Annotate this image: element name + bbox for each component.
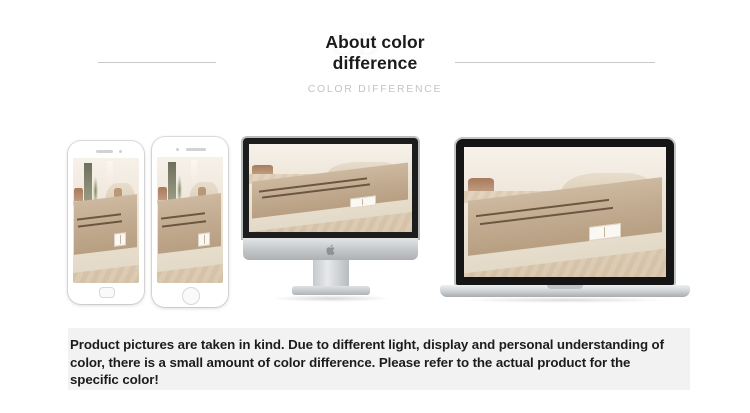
home-button-icon [182,287,200,305]
disclaimer-text: Product pictures are taken in kind. Due … [68,328,690,389]
home-button-icon [99,287,115,298]
laptop-screen [464,147,666,277]
laptop-shadow [460,297,670,303]
scene-door [168,162,177,200]
device-smartphone-iphone [152,137,228,307]
scene-product-tag [198,232,210,247]
scene-product-tag [114,232,126,247]
phone-screen-b [157,157,223,283]
device-desktop-imac [243,138,418,308]
page-title: About color difference [220,32,530,74]
product-photo-rug [157,157,223,283]
earpiece-speaker-icon [96,150,113,153]
imac-shadow [271,295,391,302]
device-smartphone-android [68,141,144,304]
product-photo-rug [73,158,139,283]
front-camera-icon [119,150,122,153]
scene-plant [177,175,182,200]
imac-screen [249,144,412,232]
imac-stand-foot [292,286,370,295]
laptop-notch [547,285,583,289]
scene-plant [93,176,98,201]
phone-screen-a [73,158,139,283]
device-laptop-macbook [440,139,690,307]
page-subtitle: COLOR DIFFERENCE [220,83,530,95]
scene-door [84,163,93,201]
color-difference-disclaimer: Product pictures are taken in kind. Due … [68,328,690,390]
page-header: CD About color difference COLOR DIFFEREN… [0,0,750,118]
imac-stand-neck [313,260,349,288]
apple-logo-icon [325,243,336,255]
product-photo-rug [249,144,412,232]
header-rule-left [98,62,216,63]
imac-bezel [243,138,418,238]
product-photo-rug [464,147,666,277]
earpiece-speaker-icon [186,148,206,151]
laptop-lid [456,139,674,285]
device-mockup-row [0,125,750,310]
header-title-block: About color difference COLOR DIFFERENCE [220,32,530,95]
front-camera-icon [176,148,179,151]
